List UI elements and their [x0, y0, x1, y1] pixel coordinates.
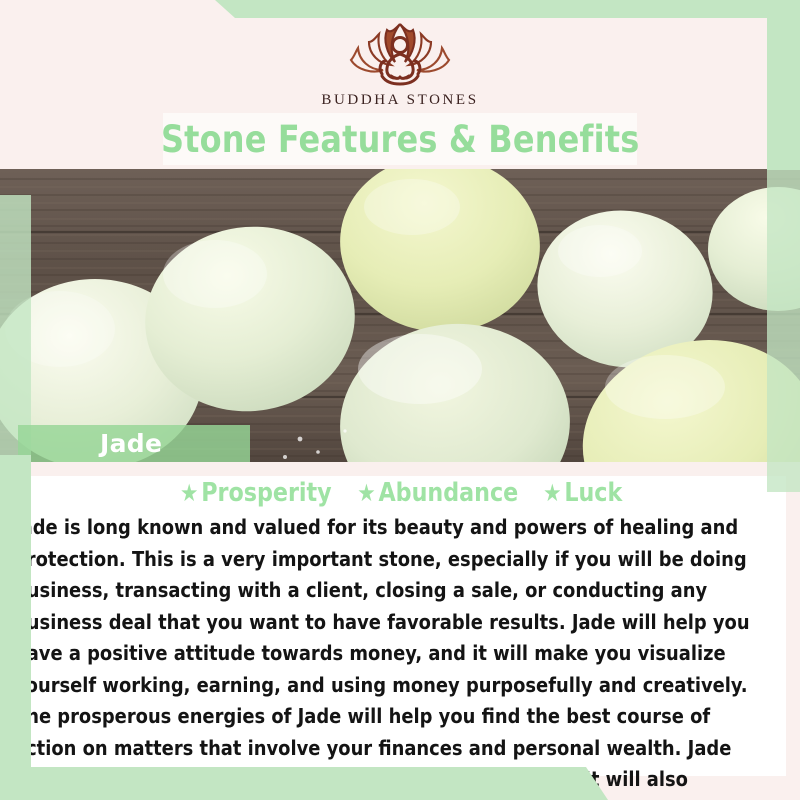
benefit-label: Luck [564, 478, 622, 508]
benefit-item-abundance: ★Abundance [358, 478, 519, 508]
benefit-item-prosperity: ★Prosperity [180, 478, 332, 508]
decoration-right-green-bar-top [767, 0, 800, 170]
decoration-left-green-strip [0, 455, 31, 800]
lotus-meditation-icon [325, 18, 475, 90]
benefits-list: ★Prosperity★Abundance★Luck [0, 462, 800, 508]
star-icon: ★ [180, 479, 198, 507]
benefit-label: Abundance [379, 478, 519, 508]
brand-name: BUDDHA STONES [321, 92, 478, 109]
star-icon: ★ [543, 479, 561, 507]
stone-name-badge: Jade [18, 425, 250, 462]
stone-description-text: Jade is long known and valued for its be… [14, 512, 777, 800]
brand-logo: BUDDHA STONES [0, 18, 800, 118]
stone-photo [0, 169, 800, 462]
stone-description-section: ★Prosperity★Abundance★Luck Jade is long … [0, 462, 800, 800]
decoration-top-green-band [215, 0, 800, 18]
stone-info-card: BUDDHA STONES Stone Features & Benefits [0, 0, 800, 800]
benefit-label: Prosperity [201, 478, 331, 508]
page-title: Stone Features & Benefits [161, 118, 639, 161]
star-icon: ★ [358, 479, 376, 507]
decoration-bottom-green-band [0, 767, 608, 800]
stone-name-label: Jade [18, 429, 162, 458]
title-banner: Stone Features & Benefits [163, 113, 637, 165]
benefit-item-luck: ★Luck [543, 478, 622, 508]
